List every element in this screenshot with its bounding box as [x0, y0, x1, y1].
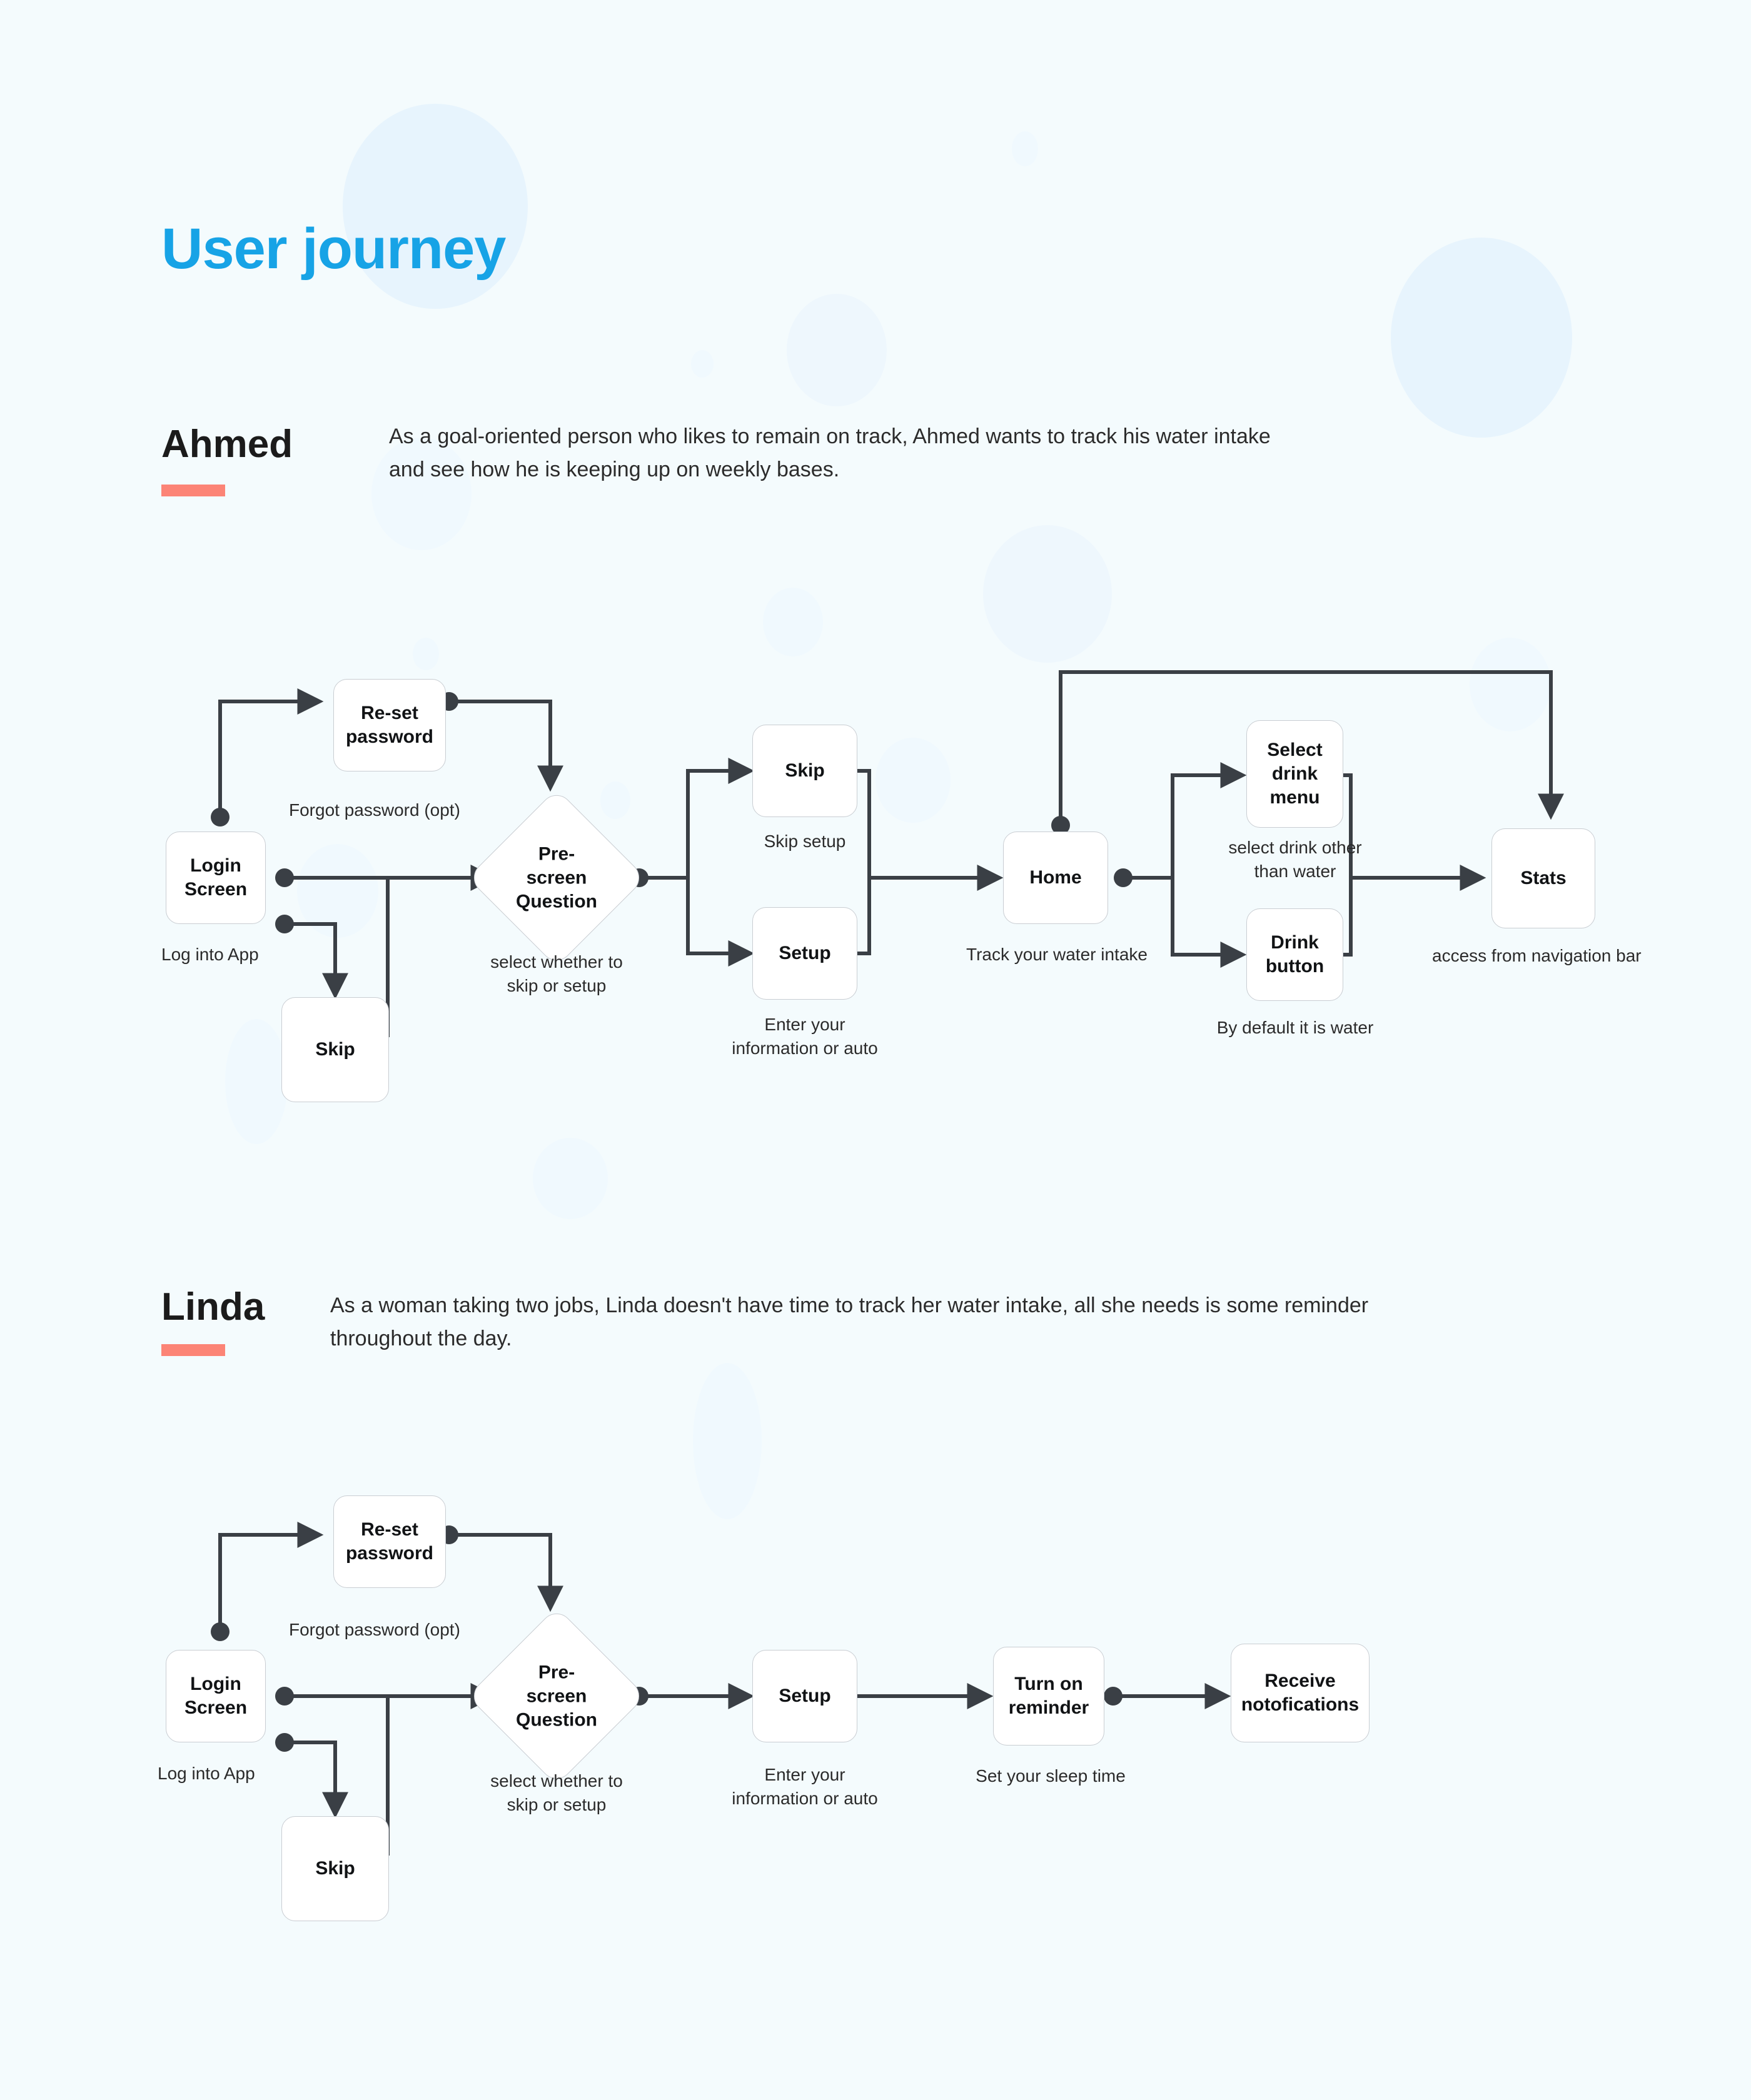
node-label: Receive notofications — [1241, 1669, 1359, 1717]
node-label: Setup — [779, 1684, 830, 1708]
node-label: Login Screen — [184, 1672, 247, 1720]
caption-enter-your-information: Enter your information or auto — [720, 1763, 889, 1811]
node-label: Turn on reminder — [1009, 1672, 1089, 1720]
caption-set-sleep-time: Set your sleep time — [951, 1764, 1151, 1788]
node-reset-password[interactable]: Re-set password — [333, 1495, 446, 1588]
caption-log-into-app: Log into App — [158, 1762, 320, 1786]
node-login-screen[interactable]: Login Screen — [166, 1650, 266, 1742]
node-pre-screen-question[interactable]: Pre-screen Question — [493, 1633, 620, 1759]
node-receive-notifications[interactable]: Receive notofications — [1231, 1644, 1370, 1742]
caption-forgot-password: Forgot password (opt) — [289, 1618, 552, 1642]
node-setup[interactable]: Setup — [752, 1650, 857, 1742]
node-skip-login[interactable]: Skip — [281, 1816, 389, 1921]
node-turn-on-reminder[interactable]: Turn on reminder — [993, 1647, 1104, 1746]
caption-select-skip-or-setup: select whether to skip or setup — [482, 1769, 632, 1817]
node-label: Skip — [315, 1857, 355, 1881]
node-label: Pre-screen Question — [516, 1660, 597, 1731]
node-label: Re-set password — [346, 1518, 433, 1565]
